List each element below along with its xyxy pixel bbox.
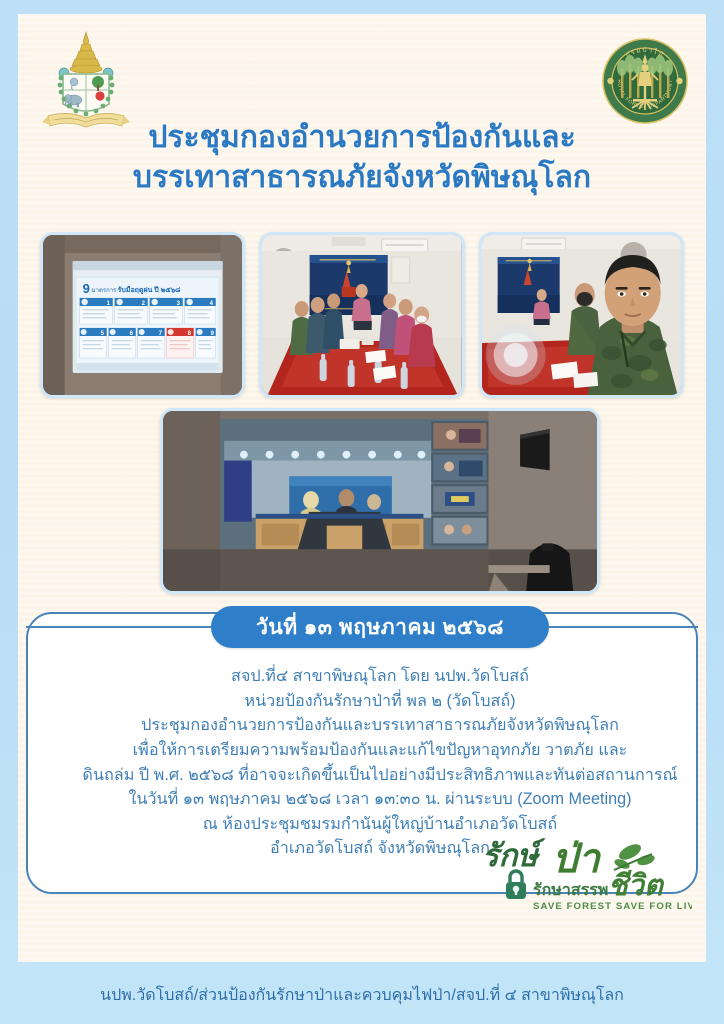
rakpa-word-rak: รักษ์ (482, 838, 546, 873)
poster-card: กรมป่าไม้ ROYAL FOREST DEPARTMENT (18, 14, 706, 962)
title-line-1: ประชุมกองอำนวยการป้องกันและ (42, 118, 682, 158)
photo-zoom-screen (160, 408, 600, 594)
photo-projector-slide: 9 มาตรการ รับมือฤดูฝน ปี ๒๕๖๘ 1 (40, 232, 245, 398)
rakpa-word-sub: รักษาสรรพ (533, 881, 608, 899)
date-rule-left (26, 626, 211, 628)
date-rule-right (549, 626, 698, 628)
page-title: ประชุมกองอำนวยการป้องกันและ บรรเทาสาธารณ… (18, 118, 706, 197)
footer: นปพ.วัดโบสถ์/ส่วนป้องกันรักษาป่าและควบคุ… (0, 983, 724, 1008)
save-forest-logo: รักษ์ ป่า ชีวิต (480, 832, 692, 914)
svg-text:มาตรการ: มาตรการ (92, 287, 117, 294)
photo-officer-selfie (479, 232, 684, 398)
footer-text: นปพ.วัดโบสถ์/ส่วนป้องกันรักษาป่าและควบคุ… (100, 987, 624, 1004)
rakpa-word-chiwit: ชีวิต (608, 869, 665, 902)
body-line-6: ในวันที่ ๑๓ พฤษภาคม ๒๕๖๘ เวลา ๑๓:๓๐ น. ผ… (36, 787, 706, 812)
svg-text:รับมือฤดูฝน ปี ๒๕๖๘: รับมือฤดูฝน ปี ๒๕๖๘ (118, 286, 181, 295)
body-line-1: สจป.ที่๔ สาขาพิษณุโลก โดย นปพ.วัดโบสถ์ (36, 664, 706, 689)
body-line-5: ดินถล่ม ปี พ.ศ. ๒๕๖๘ ที่อาจจะเกิดขึ้นเป็… (36, 763, 706, 788)
title-line-2: บรรเทาสาธารณภัยจังหวัดพิษณุโลก (42, 158, 682, 198)
rakpa-tagline: SAVE FOREST SAVE FOR LIVES (533, 901, 692, 912)
rakpa-word-pa: ป่า (552, 837, 601, 881)
lock-icon (506, 871, 526, 899)
body-line-4: เพื่อให้การเตรียมความพร้อมป้องกันและแก้ไ… (36, 738, 706, 763)
date-badge: วันที่ ๑๓ พฤษภาคม ๒๕๖๘ (211, 606, 549, 648)
svg-text:9: 9 (83, 281, 90, 296)
royal-forest-department-seal-icon: กรมป่าไม้ ROYAL FOREST DEPARTMENT (602, 38, 688, 124)
body-line-3: ประชุมกองอำนวยการป้องกันและบรรเทาสาธารณภ… (36, 713, 706, 738)
photo-gallery: 9 มาตรการ รับมือฤดูฝน ปี ๒๕๖๘ 1 (40, 232, 684, 398)
poster-root: กรมป่าไม้ ROYAL FOREST DEPARTMENT (0, 0, 724, 1024)
photo-meeting-room-wide (259, 232, 464, 398)
date-badge-label: วันที่ ๑๓ พฤษภาคม ๒๕๖๘ (256, 611, 504, 644)
body-line-2: หน่วยป้องกันรักษาป่าที่ พล ๒ (วัดโบสถ์) (36, 689, 706, 714)
